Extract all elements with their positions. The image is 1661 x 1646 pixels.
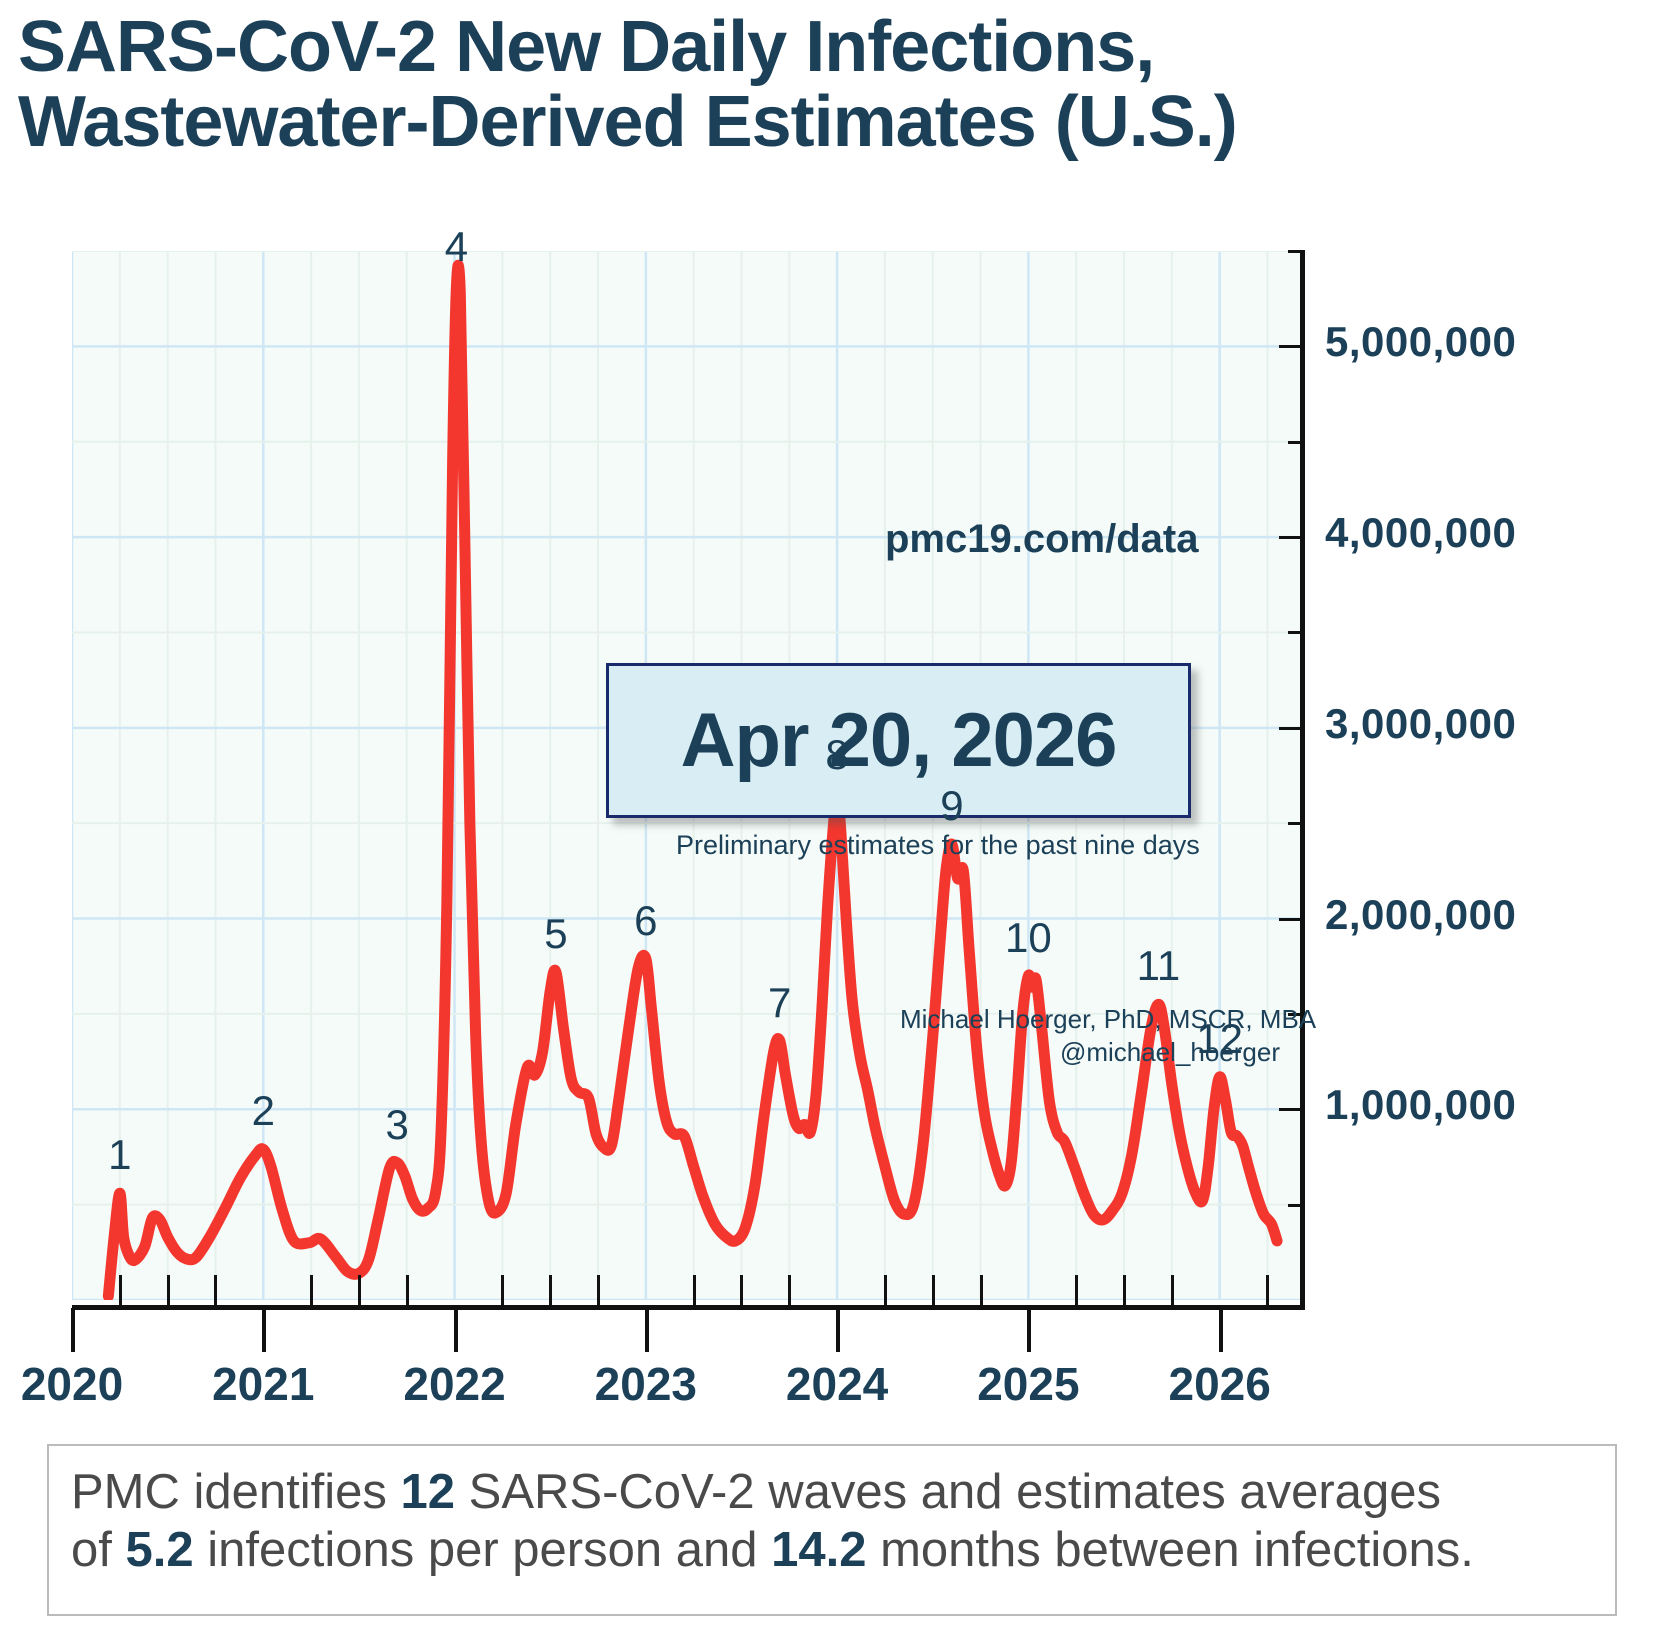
page-title: SARS-CoV-2 New Daily Infections, Wastewa… [18, 10, 1658, 160]
wave-peak-label: 10 [1005, 914, 1052, 962]
wave-peak-label: 12 [1196, 1015, 1243, 1063]
x-axis-line [72, 1305, 1305, 1310]
x-axis-tick-minor [167, 1275, 170, 1307]
x-axis-tick-minor [310, 1275, 313, 1307]
wave-peak-label: 8 [825, 731, 848, 779]
x-axis-tick-minor [1075, 1275, 1078, 1307]
caption-line-2: of 5.2 infections per person and 14.2 mo… [71, 1522, 1593, 1580]
date-badge: Apr 20, 2026 [606, 663, 1191, 818]
y-axis-tick-major [1279, 345, 1305, 348]
chart-page: SARS-CoV-2 New Daily Infections, Wastewa… [0, 0, 1661, 1646]
wave-peak-label: 6 [634, 897, 657, 945]
x-axis-tick-minor [884, 1275, 887, 1307]
x-axis-tick-minor [597, 1275, 600, 1307]
x-axis-label: 2023 [595, 1357, 697, 1411]
x-axis-tick-minor [214, 1275, 217, 1307]
caption-text-a: PMC identifies [71, 1465, 401, 1519]
y-axis-tick-minor [1288, 250, 1305, 253]
y-axis-tick-major [1279, 1108, 1305, 1111]
x-axis-tick-minor [693, 1275, 696, 1307]
caption-line-1: PMC identifies 12 SARS-CoV-2 waves and e… [71, 1464, 1593, 1522]
x-axis-tick-minor [406, 1275, 409, 1307]
x-axis-tick-major [836, 1308, 840, 1352]
preliminary-note: Preliminary estimates for the past nine … [676, 830, 1200, 861]
wave-peak-label: 1 [108, 1131, 131, 1179]
caption-box: PMC identifies 12 SARS-CoV-2 waves and e… [47, 1444, 1617, 1616]
x-axis-tick-major [262, 1308, 266, 1352]
x-axis-label: 2022 [403, 1357, 505, 1411]
wave-peak-label: 2 [252, 1087, 275, 1135]
x-axis-tick-minor [1123, 1275, 1126, 1307]
x-axis-tick-minor [980, 1275, 983, 1307]
y-axis-line [1300, 251, 1305, 1310]
y-axis-label: 1,000,000 [1325, 1081, 1516, 1129]
wave-peak-label: 4 [445, 223, 468, 271]
x-axis-tick-minor [119, 1275, 122, 1307]
y-axis-tick-minor [1288, 441, 1305, 444]
x-axis-tick-minor [932, 1275, 935, 1307]
x-axis-tick-major [645, 1308, 649, 1352]
y-axis-tick-minor [1288, 1204, 1305, 1207]
watermark-link[interactable]: pmc19.com/data [885, 517, 1198, 562]
x-axis-tick-major [454, 1308, 458, 1352]
caption-months-between: 14.2 [771, 1523, 866, 1577]
x-axis-tick-minor [740, 1275, 743, 1307]
x-axis-tick-minor [501, 1275, 504, 1307]
caption-text-c: of [71, 1523, 125, 1577]
x-axis-tick-minor [1171, 1275, 1174, 1307]
caption-wave-count: 12 [401, 1465, 456, 1519]
x-axis-tick-major [1027, 1308, 1031, 1352]
y-axis-label: 3,000,000 [1325, 700, 1516, 748]
wave-peak-label: 5 [544, 910, 567, 958]
y-axis-label: 2,000,000 [1325, 891, 1516, 939]
y-axis-tick-major [1279, 727, 1305, 730]
y-axis-label: 4,000,000 [1325, 509, 1516, 557]
y-axis-tick-major [1279, 918, 1305, 921]
x-axis-label: 2026 [1168, 1357, 1270, 1411]
caption-text-e: months between infections. [866, 1523, 1473, 1577]
wave-peak-label: 11 [1137, 942, 1181, 990]
x-axis-tick-minor [1266, 1275, 1269, 1307]
y-axis-tick-minor [1288, 822, 1305, 825]
caption-text-b: SARS-CoV-2 waves and estimates averages [455, 1465, 1441, 1519]
x-axis-tick-minor [549, 1275, 552, 1307]
caption-text-d: infections per person and [194, 1523, 771, 1577]
y-axis-tick-major [1279, 536, 1305, 539]
x-axis-tick-major [1219, 1308, 1223, 1352]
wave-peak-label: 7 [768, 979, 791, 1027]
chart-container: 1,000,0002,000,0003,000,0004,000,0005,00… [0, 245, 1661, 1390]
x-axis-label: 2024 [786, 1357, 888, 1411]
x-axis-tick-minor [788, 1275, 791, 1307]
x-axis-label: 2020 [21, 1357, 123, 1411]
y-axis-label: 5,000,000 [1325, 318, 1516, 366]
wave-peak-label: 3 [385, 1101, 408, 1149]
date-badge-label: Apr 20, 2026 [681, 697, 1117, 784]
x-axis-label: 2025 [977, 1357, 1079, 1411]
x-axis-tick-major [71, 1308, 75, 1352]
caption-infections-per-person: 5.2 [125, 1523, 193, 1577]
wave-peak-label: 9 [940, 782, 963, 830]
x-axis-label: 2021 [212, 1357, 314, 1411]
x-axis-tick-minor [358, 1275, 361, 1307]
y-axis-tick-minor [1288, 631, 1305, 634]
